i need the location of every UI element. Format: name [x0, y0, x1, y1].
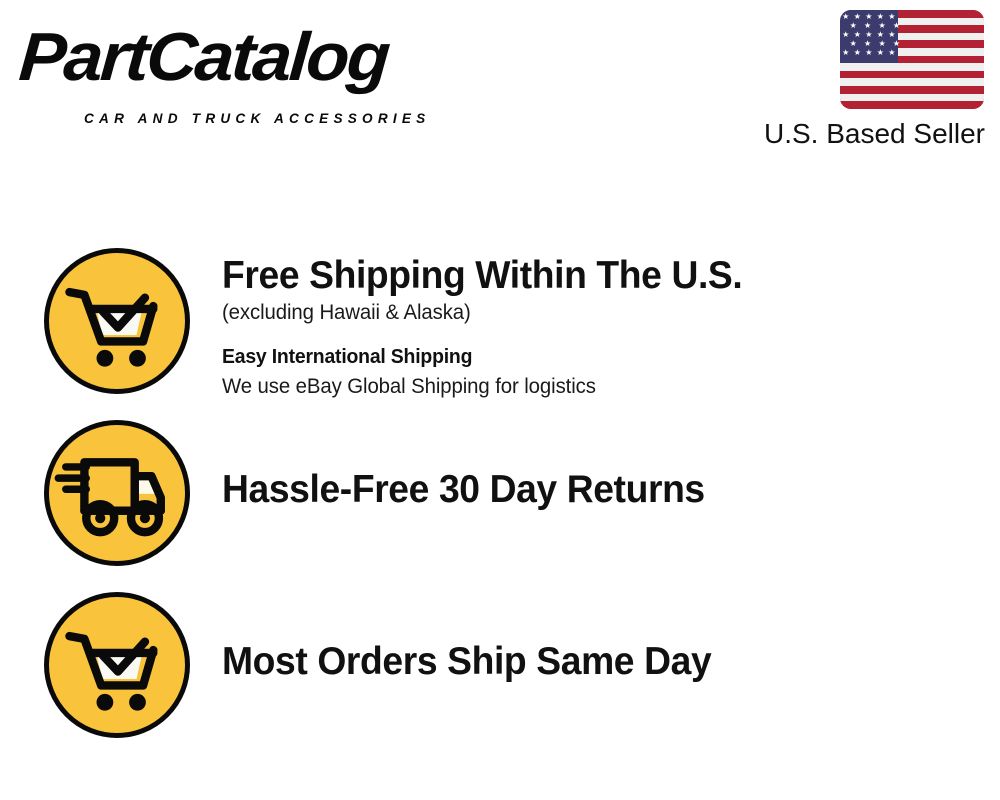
feature-text-block: Most Orders Ship Same Day: [222, 640, 962, 684]
feature-heading: Most Orders Ship Same Day: [222, 640, 929, 684]
brand-logo: PartCatalog CAR AND TRUCK ACCESSORIES: [22, 22, 492, 114]
feature-heading: Hassle-Free 30 Day Returns: [222, 468, 929, 512]
flag-stripe: [840, 86, 984, 94]
flag-star-row: ★★★★: [840, 40, 910, 48]
flag-star-row: ★★★★: [840, 22, 910, 30]
flag-star-row: ★★★★★: [840, 31, 898, 39]
us-flag-icon: ★★★★★ ★★★★ ★★★★★ ★★★★ ★★★★★: [840, 10, 984, 109]
feature-subtext: (excluding Hawaii & Alaska): [222, 298, 940, 328]
feature-subtext-secondary: We use eBay Global Shipping for logistic…: [222, 372, 940, 402]
feature-subheading: Easy International Shipping: [222, 342, 940, 372]
shopping-cart-check-icon: [44, 592, 190, 738]
flag-stripe: [840, 63, 984, 71]
brand-tagline: CAR AND TRUCK ACCESSORIES: [84, 110, 430, 126]
flag-stripe: [840, 94, 984, 102]
flag-star-row: ★★★★★: [840, 13, 898, 21]
flag-stripe: [840, 71, 984, 79]
feature-text-block: Hassle-Free 30 Day Returns: [222, 468, 962, 512]
brand-wordmark: PartCatalog: [17, 22, 390, 92]
flag-canton: ★★★★★ ★★★★ ★★★★★ ★★★★ ★★★★★: [840, 10, 898, 63]
international-shipping-block: Easy International Shipping We use eBay …: [222, 342, 962, 402]
promo-banner: PartCatalog CAR AND TRUCK ACCESSORIES ★★…: [0, 0, 1000, 800]
us-based-seller-label: U.S. Based Seller: [585, 117, 985, 151]
feature-text-block: Free Shipping Within The U.S. (excluding…: [222, 254, 962, 402]
flag-star-row: ★★★★★: [840, 49, 898, 57]
feature-heading: Free Shipping Within The U.S.: [222, 254, 929, 298]
flag-stripe: [840, 78, 984, 86]
shopping-cart-check-icon: [44, 248, 190, 394]
delivery-truck-icon: [44, 420, 190, 566]
flag-stripe: [840, 101, 984, 109]
